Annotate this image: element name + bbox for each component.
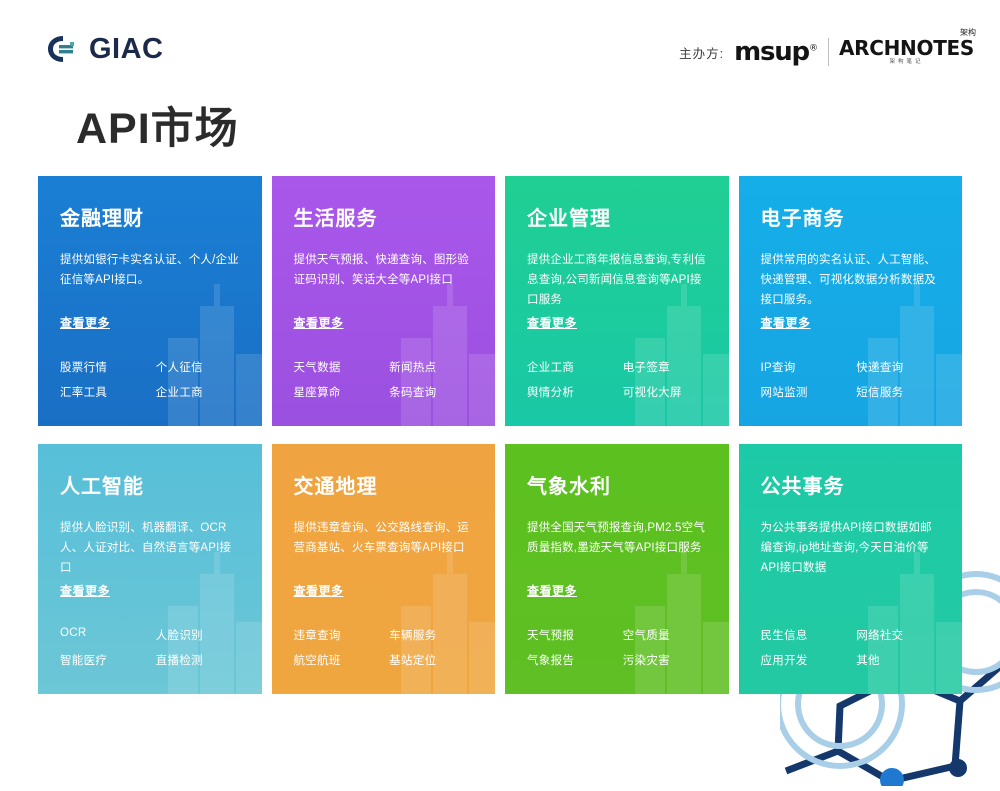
building-watermark-icon — [381, 276, 495, 426]
msup-wordmark: msup — [734, 37, 809, 67]
card-tag-list: 民生信息网络社交应用开发其他 — [761, 627, 949, 668]
card-description: 提供如银行卡实名认证、个人/企业征信等API接口。 — [60, 251, 240, 291]
card-title: 气象水利 — [527, 470, 707, 499]
card-tag[interactable]: 星座算命 — [294, 384, 386, 400]
card-title: 电子商务 — [761, 202, 941, 231]
archnotes-wordmark: ARCHNOTES — [839, 36, 974, 60]
building-watermark-icon — [148, 276, 262, 426]
card-title: 人工智能 — [60, 470, 240, 499]
card-tag-list: 天气数据新闻热点星座算命条码查询 — [294, 359, 482, 400]
card-title: 交通地理 — [294, 470, 474, 499]
building-watermark-icon — [381, 544, 495, 694]
archnotes-sub-label: 架构笔记 — [839, 60, 974, 66]
card-tag[interactable]: 汇率工具 — [60, 384, 152, 400]
card-tag-list: OCR人脸识别智能医疗直播检测 — [60, 627, 248, 668]
card-description: 提供企业工商年报信息查询,专利信息查询,公司新闻信息查询等API接口服务 — [527, 251, 707, 310]
card-tag-list: 股票行情个人征信汇率工具企业工商 — [60, 359, 248, 400]
giac-brand: GIAC — [46, 34, 164, 64]
msup-logo: msup® — [734, 39, 818, 65]
card-tag[interactable]: 直播检测 — [156, 652, 248, 668]
sponsor-label: 主办方: — [679, 43, 724, 62]
card-title: 企业管理 — [527, 202, 707, 231]
api-category-grid: 金融理财提供如银行卡实名认证、个人/企业征信等API接口。查看更多股票行情个人征… — [38, 176, 962, 694]
card-tag[interactable]: 短信服务 — [856, 384, 948, 400]
card-tag-list: 违章查询车辆服务航空航班基站定位 — [294, 627, 482, 668]
card-tag[interactable]: 企业工商 — [527, 359, 619, 375]
giac-logo-icon — [46, 34, 80, 64]
card-title: 生活服务 — [294, 202, 474, 231]
msup-registered-mark: ® — [809, 43, 818, 53]
page-title: API市场 — [76, 104, 239, 156]
card-tag[interactable]: 舆情分析 — [527, 384, 619, 400]
card-tag[interactable]: 网络社交 — [856, 627, 948, 643]
card-tag[interactable]: 民生信息 — [761, 627, 853, 643]
card-tag[interactable]: 应用开发 — [761, 652, 853, 668]
card-tag[interactable]: 污染灾害 — [623, 652, 715, 668]
card-tag[interactable]: 其他 — [856, 652, 948, 668]
card-tag[interactable]: 人脸识别 — [156, 627, 248, 643]
card-tag[interactable]: 违章查询 — [294, 627, 386, 643]
card-tag[interactable]: 车辆服务 — [389, 627, 481, 643]
category-card[interactable]: 生活服务提供天气预报、快递查询、图形验证码识别、笑话大全等API接口查看更多天气… — [272, 176, 496, 426]
card-tag[interactable]: 天气预报 — [527, 627, 619, 643]
category-card[interactable]: 公共事务为公共事务提供API接口数据如邮编查询,ip地址查询,今天日油价等API… — [739, 444, 963, 694]
category-card[interactable]: 电子商务提供常用的实名认证、人工智能、快递管理、可视化数据分析数据及接口服务。查… — [739, 176, 963, 426]
card-tag[interactable]: 快递查询 — [856, 359, 948, 375]
view-more-link[interactable]: 查看更多 — [60, 582, 110, 599]
view-more-link[interactable]: 查看更多 — [527, 582, 577, 599]
sponsor-block: 主办方: msup® ARCHNOTES 架构 架构笔记 — [679, 38, 974, 66]
card-tag[interactable]: 气象报告 — [527, 652, 619, 668]
page-header: GIAC 主办方: msup® ARCHNOTES 架构 架构笔记 — [0, 0, 1000, 92]
view-more-link[interactable]: 查看更多 — [294, 314, 344, 331]
card-tag[interactable]: 条码查询 — [389, 384, 481, 400]
sponsor-divider — [828, 38, 829, 66]
giac-brand-text: GIAC — [89, 35, 164, 64]
card-tag[interactable]: 股票行情 — [60, 359, 152, 375]
card-tag-list: IP查询快递查询网站监测短信服务 — [761, 359, 949, 400]
card-tag[interactable]: 个人征信 — [156, 359, 248, 375]
card-tag[interactable]: 网站监测 — [761, 384, 853, 400]
archnotes-cn-label: 架构 — [960, 29, 976, 37]
category-card[interactable]: 金融理财提供如银行卡实名认证、个人/企业征信等API接口。查看更多股票行情个人征… — [38, 176, 262, 426]
card-tag[interactable]: IP查询 — [761, 359, 853, 375]
card-title: 公共事务 — [761, 470, 941, 499]
card-tag[interactable]: 基站定位 — [389, 652, 481, 668]
category-card[interactable]: 企业管理提供企业工商年报信息查询,专利信息查询,公司新闻信息查询等API接口服务… — [505, 176, 729, 426]
category-card[interactable]: 人工智能提供人脸识别、机器翻译、OCR人、人证对比、自然语言等API接口查看更多… — [38, 444, 262, 694]
card-description: 提供天气预报、快递查询、图形验证码识别、笑话大全等API接口 — [294, 251, 474, 291]
card-tag[interactable]: 企业工商 — [156, 384, 248, 400]
card-description: 提供常用的实名认证、人工智能、快递管理、可视化数据分析数据及接口服务。 — [761, 251, 941, 310]
card-title: 金融理财 — [60, 202, 240, 231]
view-more-link[interactable]: 查看更多 — [527, 314, 577, 331]
view-more-link[interactable]: 查看更多 — [294, 582, 344, 599]
view-more-link[interactable]: 查看更多 — [761, 314, 811, 331]
card-tag[interactable]: 天气数据 — [294, 359, 386, 375]
card-tag[interactable]: 新闻热点 — [389, 359, 481, 375]
card-tag[interactable]: 智能医疗 — [60, 652, 152, 668]
card-description: 提供违章查询、公交路线查询、运营商基站、火车票查询等API接口 — [294, 519, 474, 559]
card-description: 提供全国天气预报查询,PM2.5空气质量指数,墨迹天气等API接口服务 — [527, 519, 707, 559]
card-tag[interactable]: 空气质量 — [623, 627, 715, 643]
card-description: 为公共事务提供API接口数据如邮编查询,ip地址查询,今天日油价等API接口数据 — [761, 519, 941, 578]
card-tag-list: 企业工商电子签章舆情分析可视化大屏 — [527, 359, 715, 400]
card-tag-list: 天气预报空气质量气象报告污染灾害 — [527, 627, 715, 668]
archnotes-logo: ARCHNOTES 架构 架构笔记 — [839, 38, 974, 66]
category-card[interactable]: 交通地理提供违章查询、公交路线查询、运营商基站、火车票查询等API接口查看更多违… — [272, 444, 496, 694]
card-tag[interactable]: OCR — [60, 627, 152, 643]
building-watermark-icon — [615, 544, 729, 694]
card-tag[interactable]: 航空航班 — [294, 652, 386, 668]
card-tag[interactable]: 电子签章 — [623, 359, 715, 375]
category-card[interactable]: 气象水利提供全国天气预报查询,PM2.5空气质量指数,墨迹天气等API接口服务查… — [505, 444, 729, 694]
card-description: 提供人脸识别、机器翻译、OCR人、人证对比、自然语言等API接口 — [60, 519, 240, 578]
card-tag[interactable]: 可视化大屏 — [623, 384, 715, 400]
view-more-link[interactable]: 查看更多 — [60, 314, 110, 331]
